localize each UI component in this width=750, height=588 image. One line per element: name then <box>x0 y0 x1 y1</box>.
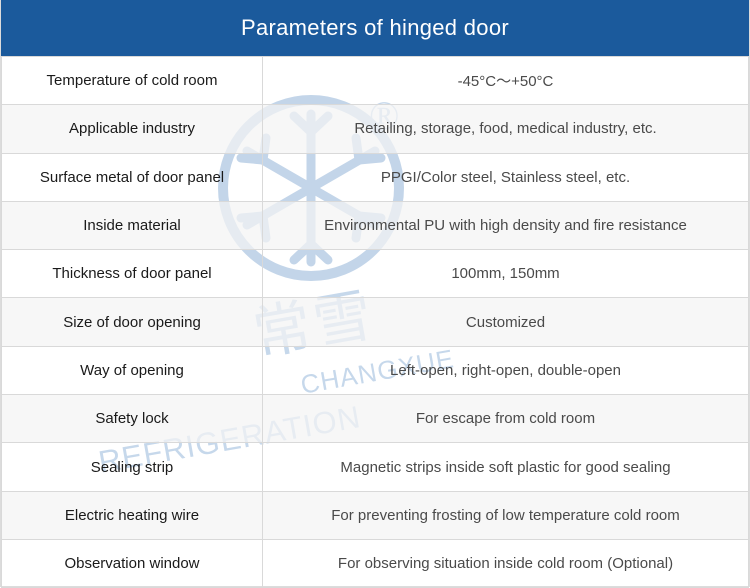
param-label: Way of opening <box>2 346 263 394</box>
table-row: Temperature of cold room -45°C～+50°C <box>2 57 749 105</box>
param-label: Observation window <box>2 539 263 587</box>
param-value: Customized <box>263 298 749 346</box>
parameters-page: ® 常雪 CHANGXUE REFRIGERATION Parameters o… <box>0 0 750 587</box>
param-value: PPGI/Color steel, Stainless steel, etc. <box>263 153 749 201</box>
table-row: Thickness of door panel 100mm, 150mm <box>2 250 749 298</box>
param-label: Inside material <box>2 201 263 249</box>
parameters-table: Temperature of cold room -45°C～+50°C App… <box>1 56 749 588</box>
table-row: Way of opening Left-open, right-open, do… <box>2 346 749 394</box>
param-value: Magnetic strips inside soft plastic for … <box>263 443 749 491</box>
param-value: 100mm, 150mm <box>263 250 749 298</box>
table-row: Inside material Environmental PU with hi… <box>2 201 749 249</box>
param-value: Left-open, right-open, double-open <box>263 346 749 394</box>
param-value: Retailing, storage, food, medical indust… <box>263 105 749 153</box>
param-value: For preventing frosting of low temperatu… <box>263 491 749 539</box>
table-row: Electric heating wire For preventing fro… <box>2 491 749 539</box>
param-value: -45°C～+50°C <box>263 57 749 105</box>
param-label: Size of door opening <box>2 298 263 346</box>
table-row: Safety lock For escape from cold room <box>2 395 749 443</box>
param-value: For escape from cold room <box>263 395 749 443</box>
param-label: Sealing strip <box>2 443 263 491</box>
page-title: Parameters of hinged door <box>241 15 509 41</box>
param-label: Safety lock <box>2 395 263 443</box>
param-value: For observing situation inside cold room… <box>263 539 749 587</box>
param-label: Thickness of door panel <box>2 250 263 298</box>
table-row: Size of door opening Customized <box>2 298 749 346</box>
param-label: Applicable industry <box>2 105 263 153</box>
table-row: Sealing strip Magnetic strips inside sof… <box>2 443 749 491</box>
parameters-table-body: Temperature of cold room -45°C～+50°C App… <box>2 57 749 588</box>
param-value: Environmental PU with high density and f… <box>263 201 749 249</box>
param-label: Temperature of cold room <box>2 57 263 105</box>
param-label: Electric heating wire <box>2 491 263 539</box>
table-row: Surface metal of door panel PPGI/Color s… <box>2 153 749 201</box>
param-label: Surface metal of door panel <box>2 153 263 201</box>
page-title-bar: Parameters of hinged door <box>1 0 749 56</box>
table-row: Applicable industry Retailing, storage, … <box>2 105 749 153</box>
table-row: Observation window For observing situati… <box>2 539 749 587</box>
